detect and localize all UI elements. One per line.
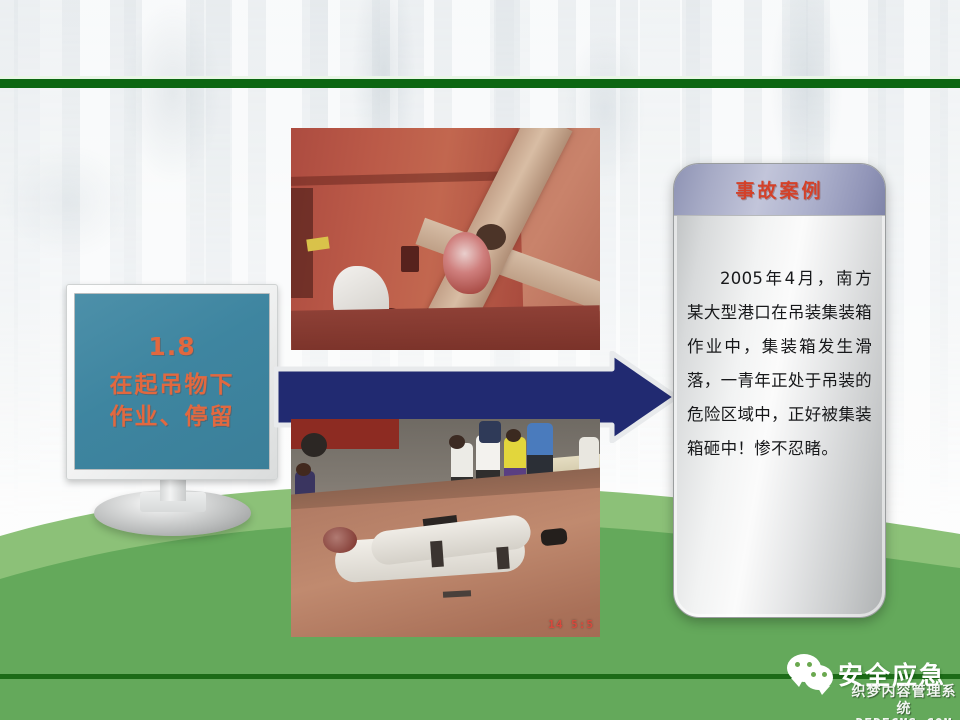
- monitor-neck: [160, 479, 186, 501]
- photo-timestamp: 14 5:5: [548, 618, 594, 631]
- accident-case-body: 2005年4月，南方某大型港口在吊装集装箱作业中，集装箱发生滑落，一青年正处于吊…: [674, 216, 885, 466]
- accident-case-card: 事故案例 2005年4月，南方某大型港口在吊装集装箱作业中，集装箱发生滑落，一青…: [673, 163, 886, 618]
- topic-line-1: 在起吊物下: [110, 369, 235, 402]
- watermark: 织梦内容管理系统 DEDECMS.COM: [848, 684, 960, 720]
- container-crush-photo: [291, 128, 600, 350]
- wechat-icon: [787, 654, 835, 694]
- accident-case-title: 事故案例: [735, 176, 823, 203]
- accident-case-header: 事故案例: [674, 164, 885, 216]
- monitor-screen: 1.8 在起吊物下 作业、停留: [74, 293, 270, 470]
- topic-number: 1.8: [148, 329, 195, 365]
- topic-line-2: 作业、停留: [110, 401, 235, 434]
- watermark-cn: 织梦内容管理系统: [848, 684, 960, 717]
- accident-case-text: 2005年4月，南方某大型港口在吊装集装箱作业中，集装箱发生滑落，一青年正处于吊…: [687, 262, 872, 466]
- monitor-bezel: 1.8 在起吊物下 作业、停留: [66, 284, 278, 480]
- slide-canvas: 1.8 在起吊物下 作业、停留: [0, 0, 960, 720]
- victim-on-deck-photo: 14 5:5: [291, 419, 600, 637]
- topic-monitor: 1.8 在起吊物下 作业、停留: [66, 284, 286, 524]
